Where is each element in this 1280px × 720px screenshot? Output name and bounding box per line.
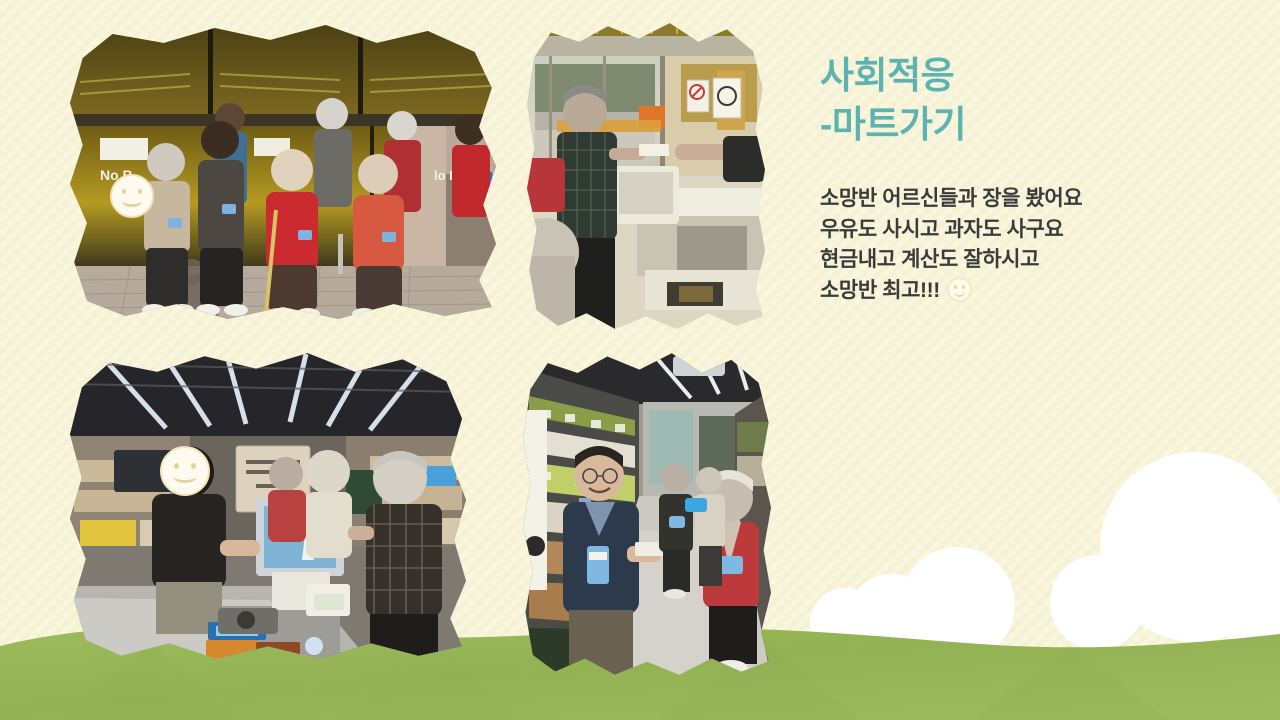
body-text-block: 소망반 어르신들과 장을 봤어요 우유도 사시고 과자도 사구요 현금내고 계산… [820,184,1240,307]
smiley-face-sticker [110,174,154,218]
photo-shopping-in-aisle [523,350,771,678]
photo-group-at-store-entrance: No B lo Brand [70,22,496,322]
slide-canvas: No B lo Brand [0,0,1280,720]
body-line-text: 소망반 최고!!! [820,279,940,302]
photo-paying-at-counter [527,20,765,332]
smiley-face-icon [947,277,972,302]
body-line: 우유도 사시고 과자도 사구요 [820,215,1240,246]
smiley-face-sticker [160,446,210,496]
body-line: 현금내고 계산도 잘하시고 [820,245,1240,276]
text-column: 사회적응 -마트가기 소망반 어르신들과 장을 봤어요 우유도 사시고 과자도 … [820,52,1240,307]
photo-checkout-counter [70,350,466,662]
body-line-with-emoji: 소망반 최고!!! [820,276,1240,307]
body-line: 소망반 어르신들과 장을 봤어요 [820,184,1240,215]
page-title: 사회적응 -마트가기 [820,52,1240,150]
